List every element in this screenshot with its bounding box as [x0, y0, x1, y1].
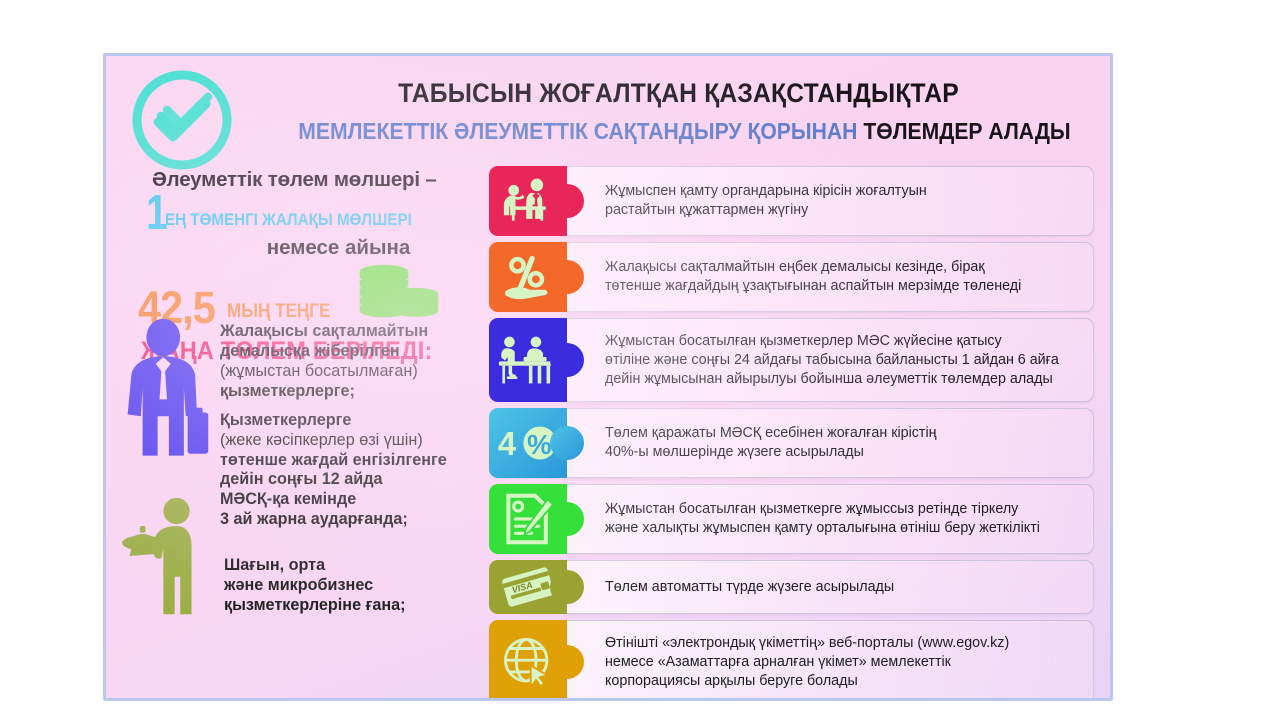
card-forty-percent-body: Төлем қаражаты МӘСҚ есебінен жоғалған кі…	[565, 408, 1094, 478]
line: және халықты жұмыспен қамту орталығына ө…	[605, 520, 1040, 536]
line: төтенше жағдай енгізілгенге	[220, 451, 447, 471]
social-payment-heading: Әлеуметтік төлем мөлшері –	[128, 168, 513, 192]
card-text: Төлем автоматты түрде жүзеге асырылады	[605, 578, 894, 597]
line: демалысқа жіберілген	[220, 342, 447, 362]
interview-desk-icon	[489, 166, 567, 236]
line: Төлем автоматты түрде жүзеге асырылады	[605, 579, 894, 595]
poster-title: ТАБЫСЫН ЖОҒАЛТҚАН ҚАЗАҚСТАНДЫҚТАР МЕМЛЕК…	[256, 78, 1101, 145]
globe-cursor-icon	[489, 620, 567, 701]
line: Жалақысы сақталмайтын еңбек демалысы кез…	[605, 259, 985, 275]
waiter-with-tray-icon	[122, 496, 216, 623]
card-interview-body: Жұмыспен қамту органдарына кірісін жоғал…	[565, 166, 1094, 236]
bank-card-visa-icon: VISA	[489, 560, 567, 614]
infographic-poster: ТАБЫСЫН ЖОҒАЛТҚАН ҚАЗАҚСТАНДЫҚТАР МЕМЛЕК…	[103, 53, 1113, 701]
line: Өтінішті «электрондық үкіметтің» веб-пор…	[605, 635, 1009, 651]
minimum-wage-amount-row: 1 ЕҢ ТӨМЕНГІ ЖАЛАҚЫ МӨЛШЕРІ	[128, 194, 513, 233]
title-line-2: МЕМЛЕКЕТТІК ӘЛЕУМЕТТІК САҚТАНДЫРУ ҚОРЫНА…	[298, 118, 1059, 145]
line: Төлем қаражаты МӘСҚ есебінен жоғалған кі…	[605, 425, 937, 441]
line: өтіліне және соңғы 24 айдағы табысына ба…	[605, 352, 1059, 368]
card-interview[interactable]: Жұмыспен қамту органдарына кірісін жоғал…	[489, 166, 1094, 236]
amount-one-caption: ЕҢ ТӨМЕНГІ ЖАЛАҚЫ МӨЛШЕРІ	[165, 211, 412, 230]
line: және микробизнес	[224, 576, 406, 596]
card-automatic-payment[interactable]: VISA Төлем автоматты түрде жүзеге асырыл…	[489, 560, 1094, 614]
office-desk-laptop-icon	[489, 318, 567, 402]
line: төтенше жағдайдың ұзақтығынан аспайтын м…	[605, 278, 1021, 294]
card-text: Төлем қаражаты МӘСҚ есебінен жоғалған кі…	[605, 424, 937, 462]
forty-percent-icon: 4 %	[489, 408, 567, 478]
card-registration-body: Жұмыстан босатылған қызметкерге жұмыссыз…	[565, 484, 1094, 554]
title-line-2-blue: МЕМЛЕКЕТТІК ӘЛЕУМЕТТІК САҚТАНДЫРУ ҚОРЫНА…	[298, 118, 857, 144]
beneficiary-group-2-text: Шағын, орта және микробизнес қызметкерле…	[224, 556, 406, 625]
line: Шағын, орта	[224, 556, 406, 576]
svg-text:%: %	[527, 429, 551, 460]
line: дейін соңғы 12 айда	[220, 470, 447, 490]
card-unpaid-leave[interactable]: Жалақысы сақталмайтын еңбек демалысы кез…	[489, 242, 1094, 312]
percent-in-hand-icon	[489, 242, 567, 312]
card-automatic-payment-body: Төлем автоматты түрде жүзеге асырылады	[565, 560, 1094, 614]
paragraph: Шағын, орта және микробизнес қызметкерле…	[224, 556, 406, 616]
line: (жұмыстан босатылмаған)	[220, 362, 447, 382]
card-egov-application-body: Өтінішті «электрондық үкіметтің» веб-пор…	[565, 620, 1094, 701]
title-line-2-dark: ТӨЛЕМДЕР АЛАДЫ	[863, 118, 1070, 144]
double-check-badge-icon	[128, 66, 236, 174]
or-monthly-label: немесе айына	[128, 236, 513, 260]
card-registration[interactable]: Жұмыстан босатылған қызметкерге жұмыссыз…	[489, 484, 1094, 554]
line: (жеке кәсіпкерлер өзі үшін)	[220, 431, 447, 451]
title-line-1: ТАБЫСЫН ЖОҒАЛТҚАН ҚАЗАҚСТАНДЫҚТАР	[286, 78, 1072, 109]
card-egov-application[interactable]: Өтінішті «электрондық үкіметтің» веб-пор…	[489, 620, 1094, 701]
line: Қызметкерлерге	[220, 411, 447, 431]
line: қызметкерлеріне ғана;	[224, 596, 406, 616]
document-with-pen-icon	[489, 484, 567, 554]
card-dismissed-employees[interactable]: Жұмыстан босатылған қызметкерлер МӘС жүй…	[489, 318, 1094, 402]
line: Жұмыспен қамту органдарына кірісін жоғал…	[605, 183, 927, 199]
conditions-card-list: Жұмыспен қамту органдарына кірісін жоғал…	[489, 166, 1094, 701]
svg-text:4: 4	[498, 425, 517, 462]
card-text: Жұмыстан босатылған қызметкерлер МӘС жүй…	[605, 332, 1059, 389]
beneficiary-group-2: Шағын, орта және микробизнес қызметкерле…	[122, 496, 406, 625]
line: 40%-ы мөлшерінде жүзеге асырылады	[605, 444, 864, 460]
card-text: Жұмыстан босатылған қызметкерге жұмыссыз…	[605, 500, 1040, 538]
line: немесе «Азаматтарға арналған үкімет» мем…	[605, 654, 951, 670]
card-dismissed-employees-body: Жұмыстан босатылған қызметкерлер МӘС жүй…	[565, 318, 1094, 402]
paragraph: Жалақысы сақталмайтын демалысқа жіберілг…	[220, 322, 447, 402]
line: Жалақысы сақталмайтын	[220, 322, 447, 342]
card-text: Жұмыспен қамту органдарына кірісін жоғал…	[605, 182, 927, 220]
line: Жұмыстан босатылған қызметкерлер МӘС жүй…	[605, 333, 1002, 349]
card-unpaid-leave-body: Жалақысы сақталмайтын еңбек демалысы кез…	[565, 242, 1094, 312]
line: растайтын құжаттармен жүгіну	[605, 202, 808, 218]
card-text: Жалақысы сақталмайтын еңбек демалысы кез…	[605, 258, 1021, 296]
line: Жұмыстан босатылған қызметкерге жұмыссыз…	[605, 501, 1018, 517]
line: қызметкерлерге;	[220, 382, 447, 402]
card-forty-percent[interactable]: 4 % Төлем қаражаты МӘСҚ есебінен жоғалға…	[489, 408, 1094, 478]
line: дейін жұмысынан айырылуы бойынша әлеумет…	[605, 371, 1053, 387]
line: корпорациясы арқылы беруге болады	[605, 673, 858, 689]
businessman-with-briefcase-icon	[122, 318, 212, 465]
card-text: Өтінішті «электрондық үкіметтің» веб-пор…	[605, 634, 1009, 691]
